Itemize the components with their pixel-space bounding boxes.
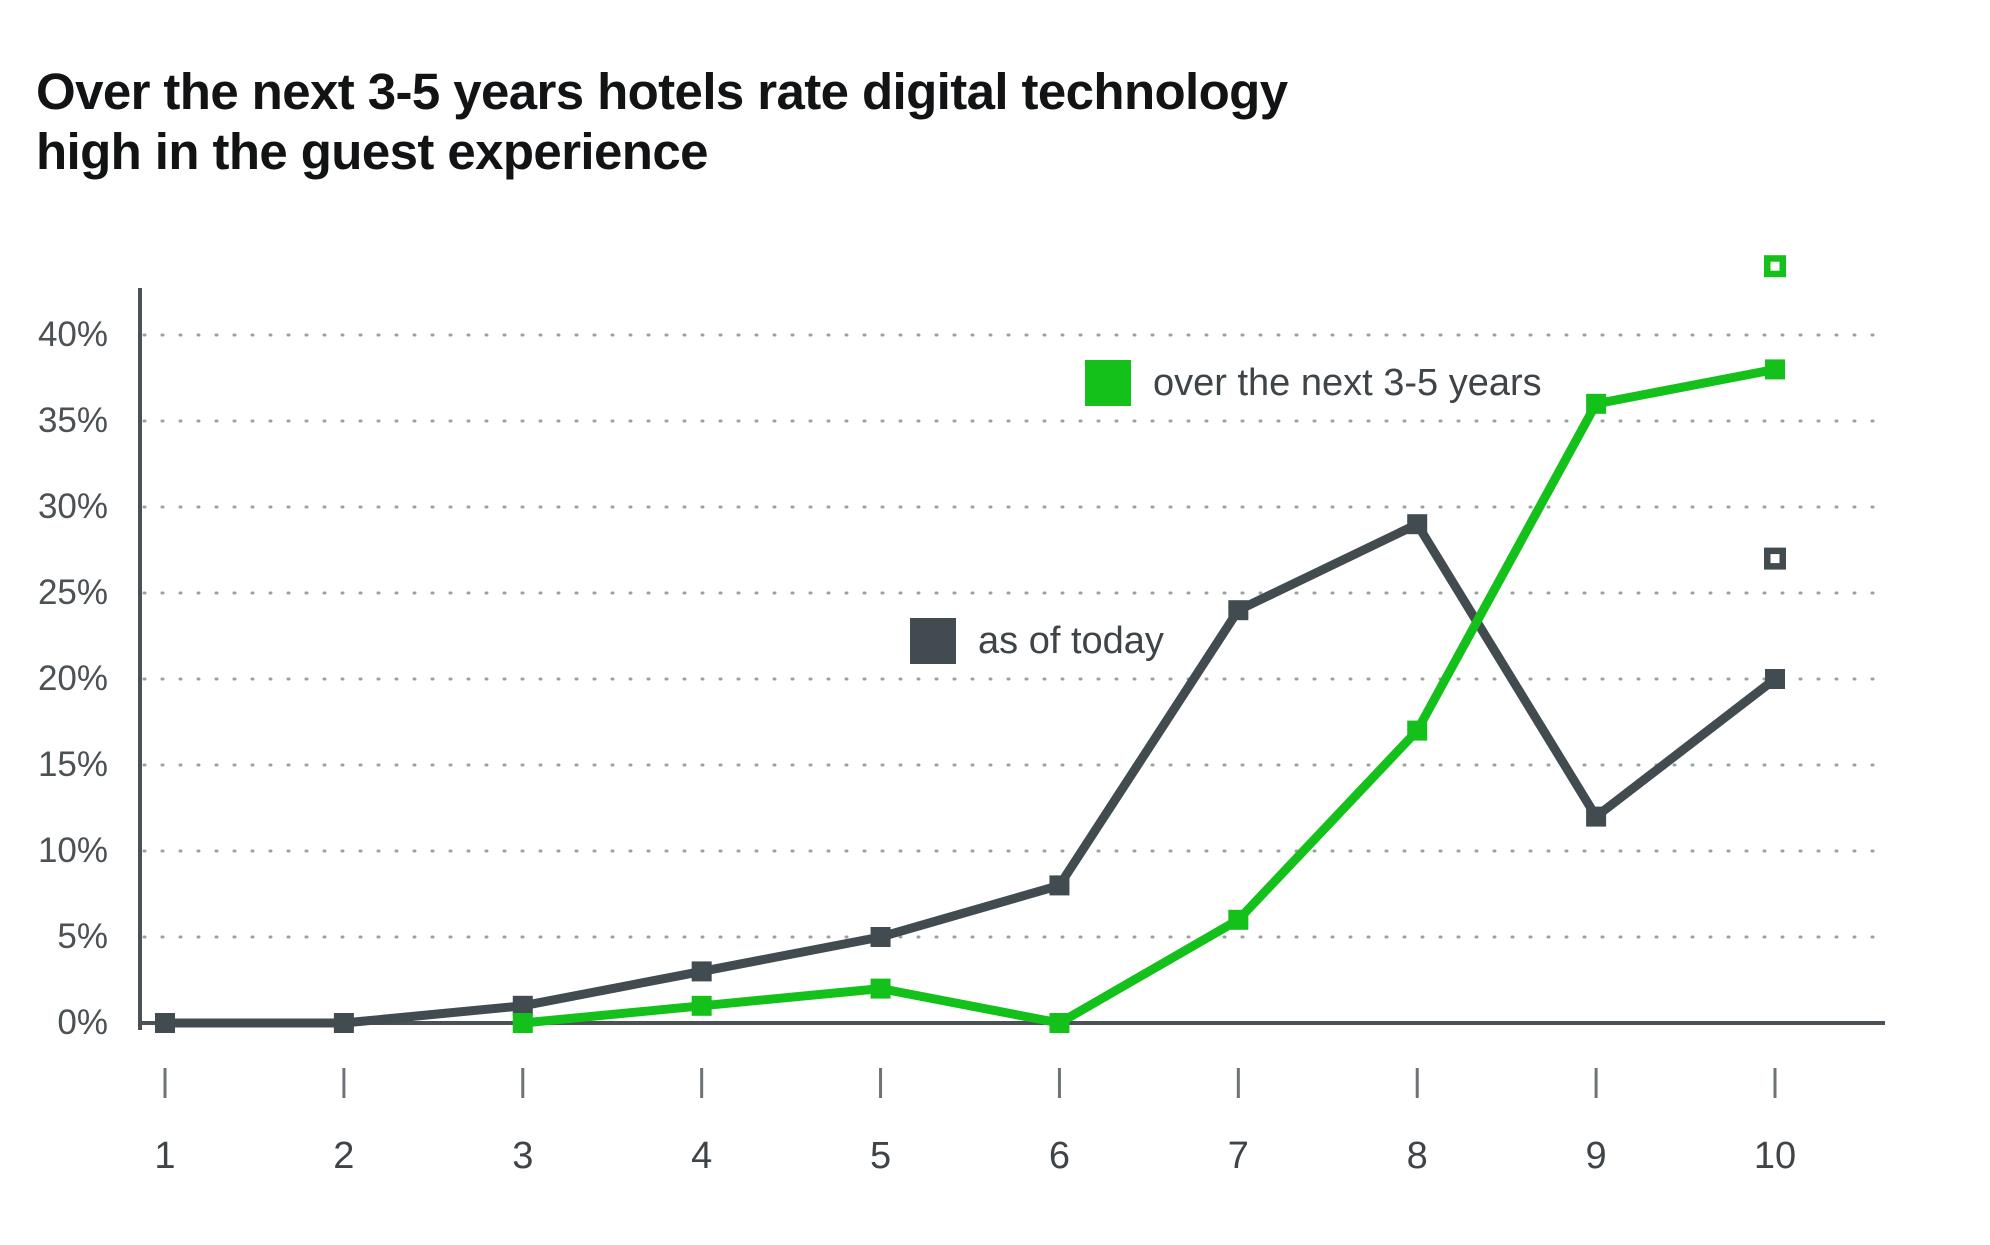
data-point-marker xyxy=(1049,875,1069,895)
y-axis-tick-label: 15% xyxy=(38,745,108,785)
x-axis-tick-label: 9 xyxy=(1586,1135,1607,1178)
data-point-marker xyxy=(513,1013,533,1033)
series-as-of-today xyxy=(155,514,1785,1033)
x-axis-tick-label: 5 xyxy=(870,1135,891,1178)
y-axis-labels: 0%5%10%15%20%25%30%35%40% xyxy=(0,0,108,1240)
x-axis-tick-label: 4 xyxy=(691,1135,712,1178)
series-over-the-next-3-5-years xyxy=(513,359,1785,1033)
data-point-marker xyxy=(1228,600,1248,620)
data-point-marker xyxy=(513,996,533,1016)
data-point-marker xyxy=(1765,359,1785,379)
detached-marker xyxy=(1764,255,1786,277)
data-point-marker xyxy=(1407,514,1427,534)
data-point-marker xyxy=(692,996,712,1016)
data-point-marker xyxy=(1407,721,1427,741)
y-axis-tick-label: 25% xyxy=(38,573,108,613)
y-axis-tick-label: 20% xyxy=(38,659,108,699)
data-point-marker xyxy=(871,979,891,999)
legend-label: as of today xyxy=(978,620,1164,663)
x-axis-tick-label: 6 xyxy=(1049,1135,1070,1178)
x-axis-tick-label: 10 xyxy=(1754,1135,1796,1178)
dark-square-icon xyxy=(910,618,956,664)
x-axis-tick-label: 2 xyxy=(333,1135,354,1178)
x-axis-tick-label: 8 xyxy=(1407,1135,1428,1178)
y-axis-tick-label: 30% xyxy=(38,487,108,527)
data-point-marker xyxy=(1228,910,1248,930)
data-point-marker xyxy=(1765,669,1785,689)
data-point-marker xyxy=(1586,807,1606,827)
series-line xyxy=(165,524,1775,1023)
data-point-marker xyxy=(1586,394,1606,414)
green-square-icon xyxy=(1085,360,1131,406)
x-axis-tick-label: 7 xyxy=(1228,1135,1249,1178)
legend-item-as-of-today[interactable]: as of today xyxy=(910,618,1164,664)
data-point-marker xyxy=(1049,1013,1069,1033)
y-axis-tick-label: 0% xyxy=(57,1003,108,1043)
data-point-marker xyxy=(692,961,712,981)
y-axis-tick-label: 40% xyxy=(38,315,108,355)
legend-label: over the next 3-5 years xyxy=(1153,362,1542,405)
data-point-marker xyxy=(871,927,891,947)
line-chart: 0%5%10%15%20%25%30%35%40%12345678910over… xyxy=(0,0,1990,1240)
detached-marker xyxy=(1764,548,1786,570)
series-line xyxy=(523,369,1775,1023)
x-axis-tick-label: 1 xyxy=(154,1135,175,1178)
data-point-marker xyxy=(155,1013,175,1033)
x-axis-ticks xyxy=(165,1068,1775,1098)
data-point-marker xyxy=(334,1013,354,1033)
y-axis-tick-label: 35% xyxy=(38,401,108,441)
legend-item-over-the-next-3-5-years[interactable]: over the next 3-5 years xyxy=(1085,360,1542,406)
y-axis-tick-label: 10% xyxy=(38,831,108,871)
y-axis-tick-label: 5% xyxy=(57,917,108,957)
x-axis-tick-label: 3 xyxy=(512,1135,533,1178)
